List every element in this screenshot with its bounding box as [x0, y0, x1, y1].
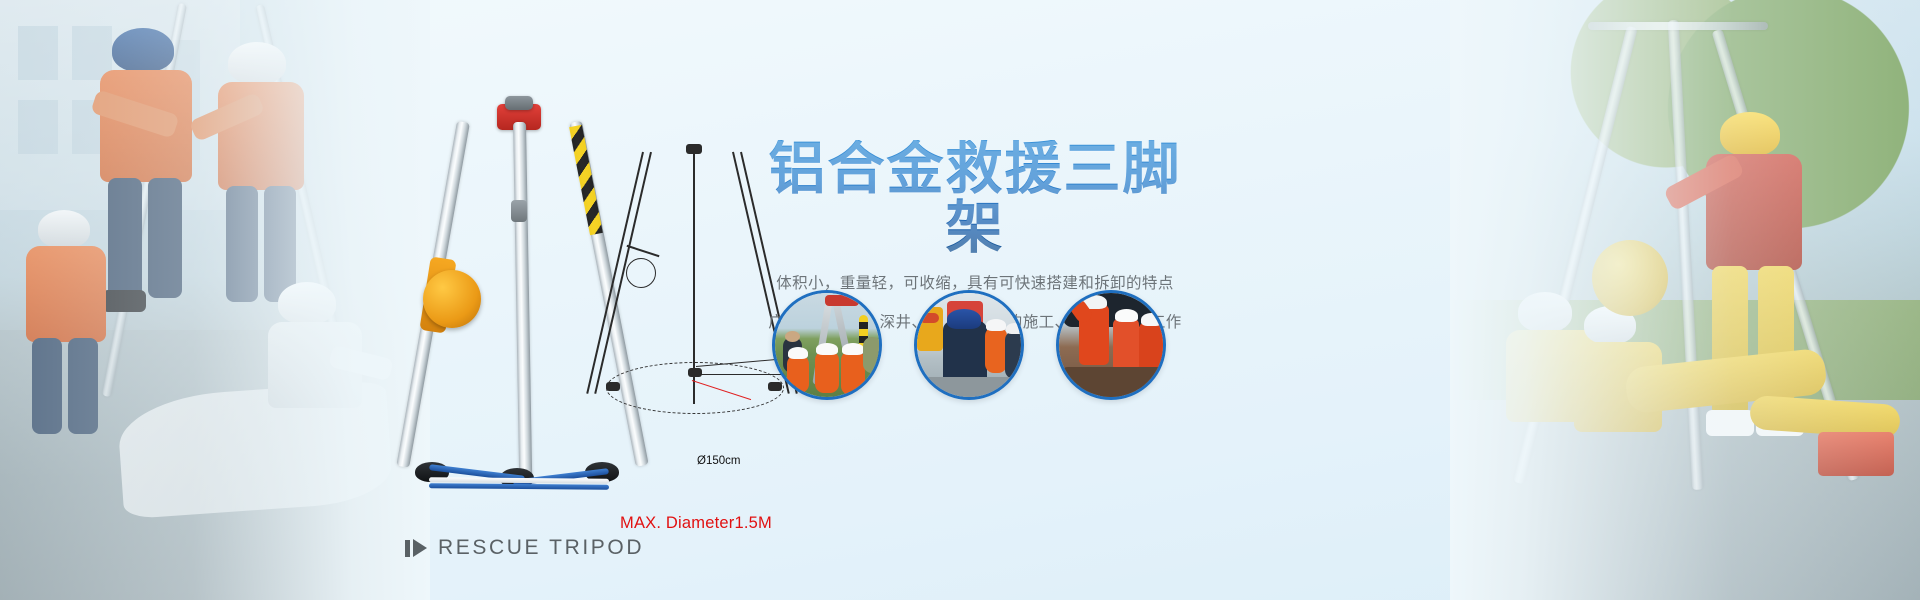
right-grass: [1450, 300, 1920, 420]
product-banner: Ø150cm MAX. Diameter1.5M 铝合金救援三脚架 体积小，重量…: [0, 0, 1920, 600]
confined-space-rescue-photo[interactable]: [1056, 290, 1166, 400]
rescue-team-field-photo[interactable]: [772, 290, 882, 400]
equipment-case: [1818, 432, 1894, 476]
left-building: [0, 0, 240, 210]
page-title: 铝合金救援三脚架: [745, 140, 1205, 259]
left-rescue-scene: [0, 0, 430, 600]
left-tarp: [116, 381, 394, 520]
diameter-label: Ø150cm: [697, 455, 740, 467]
product-caption-label: RESCUE TRIPOD: [438, 536, 644, 560]
max-diameter-label: MAX. Diameter1.5M: [620, 514, 772, 533]
product-caption: RESCUE TRIPOD: [405, 536, 644, 560]
right-scene-background: [1450, 0, 1920, 600]
thumbnail-gallery: [772, 282, 1172, 408]
right-pavement: [1450, 400, 1920, 600]
fire-hose: [1749, 395, 1901, 439]
winch-drum: [423, 270, 481, 328]
left-ground: [0, 330, 430, 600]
left-scene-background: [0, 0, 430, 600]
hose-drum: [1592, 240, 1668, 316]
play-triangle-icon: [405, 539, 427, 557]
right-rescue-scene: [1450, 0, 1920, 600]
fire-hose: [1624, 348, 1828, 415]
inspection-crew-photo[interactable]: [914, 290, 1024, 400]
